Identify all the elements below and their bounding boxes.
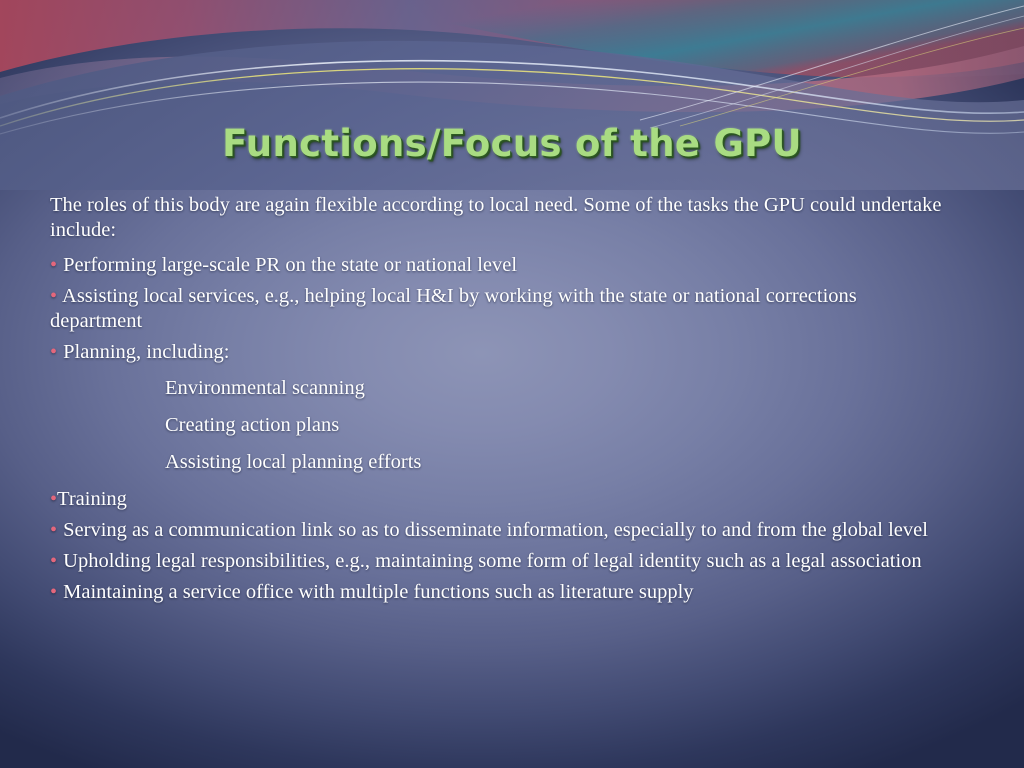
bullet-assisting-local-services: • Assisting local services, e.g., helpin… (50, 284, 950, 334)
slide-body: The roles of this body are again flexibl… (50, 193, 950, 611)
presentation-slide: Functions/Focus of the GPU The roles of … (0, 0, 1024, 768)
bullet-performing-pr: • Performing large-scale PR on the state… (50, 253, 950, 278)
bullet-marker: • (50, 285, 57, 307)
streak-yellow (0, 69, 1024, 126)
sub-creating-action-plans: Creating action plans (50, 413, 950, 438)
bullet-marker: • (50, 254, 57, 276)
paragraph-text: Upholding legal responsibilities, e.g., … (58, 550, 922, 572)
bullet-service-office: • Maintaining a service office with mult… (50, 580, 950, 605)
sub-assisting-local-planning: Assisting local planning efforts (50, 450, 950, 475)
streak-white-upper (0, 61, 1024, 118)
bullet-marker: • (50, 581, 57, 603)
bullet-marker: • (50, 341, 57, 363)
bullet-communication-link: • Serving as a communication link so as … (50, 518, 950, 543)
streak-diagonal-a (640, 6, 1024, 120)
paragraph-text: Environmental scanning (165, 377, 365, 399)
paragraph-text: Maintaining a service office with multip… (58, 581, 694, 603)
paragraph-text: Creating action plans (165, 414, 339, 436)
slide-title: Functions/Focus of the GPU (0, 122, 1024, 165)
streak-diagonal-b (650, 16, 1024, 128)
bullet-planning: • Planning, including: (50, 340, 950, 365)
bullet-marker: • (50, 550, 57, 572)
paragraph-text: Assisting local services, e.g., helping … (50, 285, 857, 332)
wave-teal-lens (330, 0, 1024, 77)
bullet-legal-responsibilities: • Upholding legal responsibilities, e.g.… (50, 549, 950, 574)
paragraph-text: Training (57, 488, 127, 510)
sub-environmental-scanning: Environmental scanning (50, 376, 950, 401)
paragraph-text: Serving as a communication link so as to… (58, 519, 928, 541)
wave-slate-body (0, 41, 1024, 190)
wave-pink-band (0, 46, 1024, 112)
bullet-training: •Training (50, 487, 950, 512)
paragraph-text: Performing large-scale PR on the state o… (58, 254, 517, 276)
wave-rose-wash (0, 0, 1024, 77)
streak-diagonal-yellow (680, 28, 1024, 126)
paragraph-text: The roles of this body are again flexibl… (50, 194, 941, 241)
bullet-marker: • (50, 519, 57, 541)
bullet-marker: • (50, 488, 57, 510)
paragraph-text: Planning, including: (58, 341, 229, 363)
paragraph-text: Assisting local planning efforts (165, 451, 421, 473)
intro-paragraph: The roles of this body are again flexibl… (50, 193, 950, 243)
